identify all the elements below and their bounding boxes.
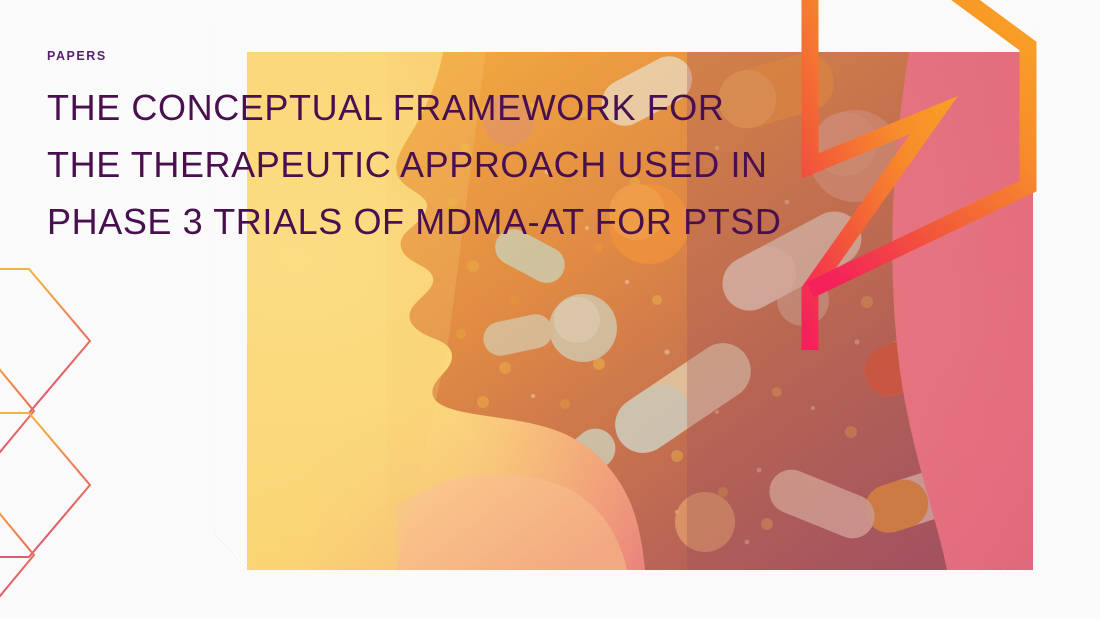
headline-line-3: PHASE 3 TRIALS OF MDMA-AT FOR PTSD — [47, 193, 782, 250]
headline-line-1: THE CONCEPTUAL FRAMEWORK FOR — [47, 79, 782, 136]
headline-line-2: THE THERAPEUTIC APPROACH USED IN — [47, 136, 782, 193]
page-title: THE CONCEPTUAL FRAMEWORK FOR THE THERAPE… — [47, 79, 782, 250]
headline-block: PAPERS THE CONCEPTUAL FRAMEWORK FOR THE … — [47, 50, 782, 250]
isometric-b-watermark-svg — [0, 243, 218, 619]
isometric-b-watermark — [0, 243, 218, 619]
eyebrow-label: PAPERS — [47, 50, 782, 63]
poster-canvas: PAPERS THE CONCEPTUAL FRAMEWORK FOR THE … — [0, 0, 1100, 619]
